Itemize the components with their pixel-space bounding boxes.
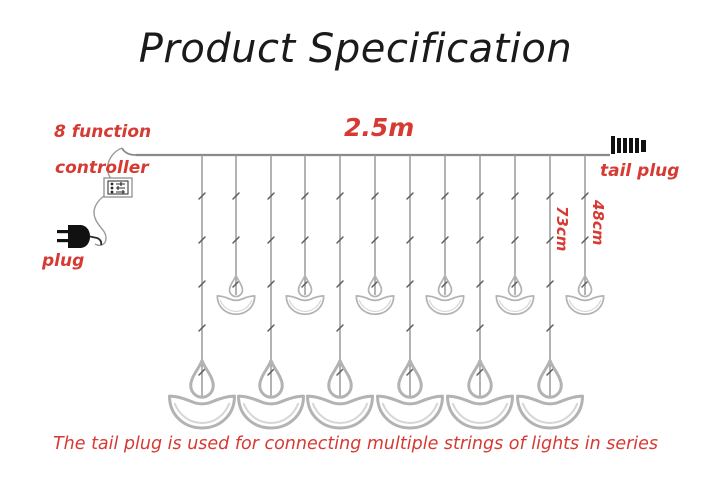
plug-label: plug bbox=[42, 251, 84, 271]
diya-lamp-icon bbox=[239, 361, 304, 429]
diya-lamp-icon bbox=[170, 361, 235, 429]
diya-lamp-icon bbox=[496, 275, 533, 314]
controller-box-icon bbox=[104, 178, 132, 197]
diya-lamp-icon bbox=[217, 275, 254, 314]
short-drop-dimension-label: 48cm bbox=[589, 200, 607, 245]
diya-lamp-icon bbox=[426, 275, 463, 314]
main-wire-left-end bbox=[122, 148, 136, 155]
long-drop-dimension-label: 73cm bbox=[553, 206, 571, 251]
diya-lamp-icon bbox=[566, 275, 603, 314]
diya-lamp-icon bbox=[286, 275, 323, 314]
small-lamp-row bbox=[217, 275, 603, 314]
led-node-group-short bbox=[233, 193, 588, 287]
controller-label-line1: 8 function bbox=[54, 122, 151, 142]
large-lamp-row bbox=[170, 361, 583, 429]
controller-label-line2: controller bbox=[55, 158, 149, 178]
diya-lamp-icon bbox=[308, 361, 373, 429]
drop-string-short bbox=[236, 155, 585, 295]
diya-lamp-icon bbox=[378, 361, 443, 429]
led-node-group-long bbox=[199, 193, 553, 375]
tail-plug-label: tail plug bbox=[600, 161, 679, 181]
drop-string-long bbox=[202, 155, 550, 398]
footer-caption: The tail plug is used for connecting mul… bbox=[0, 434, 711, 454]
diya-lamp-icon bbox=[448, 361, 513, 429]
diya-lamp-icon bbox=[356, 275, 393, 314]
total-length-label: 2.5m bbox=[344, 113, 414, 142]
controller-lower-cable bbox=[94, 196, 106, 245]
power-plug-icon bbox=[57, 225, 101, 248]
page-title: Product Specification bbox=[0, 26, 711, 72]
diya-lamp-icon bbox=[518, 361, 583, 429]
tail-plug-connector-icon bbox=[611, 136, 646, 154]
product-specification-diagram: Product Specification bbox=[0, 0, 711, 484]
drop-strings bbox=[202, 155, 585, 398]
led-nodes bbox=[199, 193, 588, 375]
